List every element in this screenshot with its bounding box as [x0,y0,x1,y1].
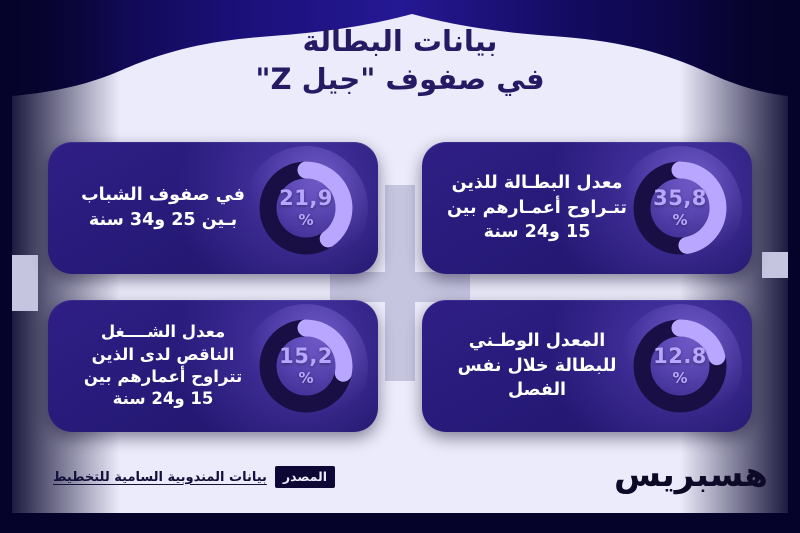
left-accent-block [12,255,38,311]
title-line-1: بيانات البطالة [0,22,800,60]
infographic-canvas: بيانات البطالة في صفوف "جيل Z" 21,9 % في… [0,0,800,533]
stat-card-national-rate[interactable]: 12.8 % المعدل الوطـني للبطالة خلال نفس ا… [422,300,752,432]
donut-label: 12.8 % [628,314,732,418]
bottom-dark-band [0,513,800,533]
stat-card-text: معدل البطـالة للذين تتـراوح أعمـارهم بين… [440,171,628,246]
donut-value: 15,2 [279,346,333,367]
source-badge: المصدر [275,466,335,488]
stat-card-text: المعدل الوطـني للبطالة خلال نفس الفصل [440,329,628,404]
donut-value: 35,8 [653,188,707,209]
right-accent-block [762,252,788,278]
donut-value: 21,9 [279,188,333,209]
donut-label: 15,2 % [254,314,358,418]
donut-percent-sign: % [298,213,313,228]
stat-card-unemployment-15-24[interactable]: 35,8 % معدل البطـالة للذين تتـراوح أعمـا… [422,142,752,274]
source-text: بيانات المندوبية السامية للتخطيط [53,470,267,485]
donut-percent-sign: % [672,371,687,386]
donut-percent-sign: % [672,213,687,228]
hespress-logo: هسبريس [614,455,768,495]
stat-card-text: معدل الشــــغل الناقص لدى الذين تتراوح أ… [66,321,254,411]
donut-percent-sign: % [298,371,313,386]
donut-label: 35,8 % [628,156,732,260]
source-inner: المصدر بيانات المندوبية السامية للتخطيط [53,466,335,488]
donut-chart-unemployment-15-24: 35,8 % [628,156,732,260]
donut-chart-youth-25-34: 21,9 % [254,156,358,260]
stat-card-text: في صفوف الشباب بـين 25 و34 سنة [66,183,254,233]
donut-label: 21,9 % [254,156,358,260]
page-title: بيانات البطالة في صفوف "جيل Z" [0,22,800,99]
title-line-2: في صفوف "جيل Z" [0,60,800,98]
center-cross-horizontal [330,272,470,302]
stat-card-underemployment-15-24[interactable]: 15,2 % معدل الشــــغل الناقص لدى الذين ت… [48,300,378,432]
donut-chart-underemployment-15-24: 15,2 % [254,314,358,418]
donut-value: 12.8 [653,346,707,367]
stat-card-youth-25-34[interactable]: 21,9 % في صفوف الشباب بـين 25 و34 سنة [48,142,378,274]
donut-chart-national-rate: 12.8 % [628,314,732,418]
